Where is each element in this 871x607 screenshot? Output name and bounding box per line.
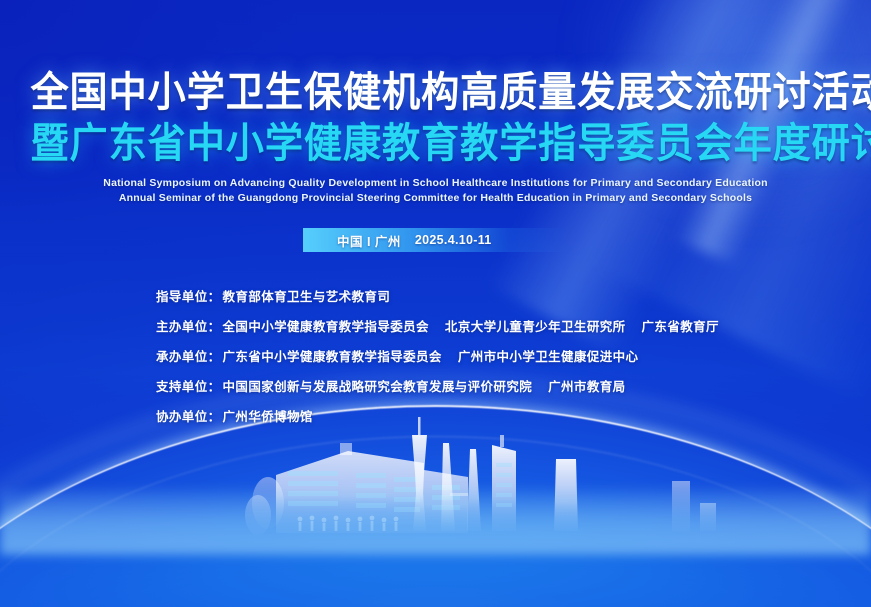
organizer-row: 支持单位： 中国国家创新与发展战略研究会教育发展与评价研究院 广州市教育局 — [156, 376, 719, 395]
venue-date-badge-wrap: 中国 I 广州 2025.4.10-11 — [0, 228, 871, 252]
organizer-label: 主办单位： — [156, 316, 221, 335]
subtitle-line-1: National Symposium on Advancing Quality … — [0, 176, 871, 191]
conference-poster: 全国中小学卫生保健机构高质量发展交流研讨活动 暨广东省中小学健康教育教学指导委员… — [0, 0, 871, 607]
organizer-row: 协办单位： 广州华侨博物馆 — [156, 406, 719, 425]
organizer-label: 协办单位： — [156, 406, 221, 425]
organizer-label: 承办单位： — [156, 346, 221, 365]
badge-date-label: 2025.4.10-11 — [415, 233, 492, 247]
organizer-value: 广州市中小学卫生健康促进中心 — [458, 346, 639, 365]
background-ground-fade — [0, 487, 871, 607]
organizer-value: 广东省教育厅 — [642, 316, 719, 335]
poster-title: 全国中小学卫生保健机构高质量发展交流研讨活动 暨广东省中小学健康教育教学指导委员… — [0, 72, 871, 164]
subtitle-line-2: Annual Seminar of the Guangdong Provinci… — [0, 191, 871, 206]
organizer-value: 全国中小学健康教育教学指导委员会 — [223, 316, 429, 335]
organizer-value: 教育部体育卫生与艺术教育司 — [223, 286, 391, 305]
venue-date-badge: 中国 I 广州 2025.4.10-11 — [303, 228, 568, 252]
organizer-values: 全国中小学健康教育教学指导委员会 北京大学儿童青少年卫生研究所 广东省教育厅 — [223, 316, 719, 335]
organizer-values: 广东省中小学健康教育教学指导委员会 广州市中小学卫生健康促进中心 — [223, 346, 639, 365]
organizer-row: 承办单位： 广东省中小学健康教育教学指导委员会 广州市中小学卫生健康促进中心 — [156, 346, 719, 365]
organizer-label: 支持单位： — [156, 376, 221, 395]
organizer-label: 指导单位： — [156, 286, 221, 305]
organizer-value: 广州华侨博物馆 — [223, 406, 313, 425]
organizer-value: 中国国家创新与发展战略研究会教育发展与评价研究院 — [223, 376, 533, 395]
badge-city-label: 中国 I 广州 — [337, 231, 401, 250]
organizer-list: 指导单位： 教育部体育卫生与艺术教育司 主办单位： 全国中小学健康教育教学指导委… — [156, 286, 719, 436]
organizer-row: 指导单位： 教育部体育卫生与艺术教育司 — [156, 286, 719, 305]
title-line-2: 暨广东省中小学健康教育教学指导委员会年度研讨活动 — [30, 123, 840, 164]
organizer-value: 广州市教育局 — [548, 376, 625, 395]
poster-subtitle: National Symposium on Advancing Quality … — [0, 176, 871, 206]
organizer-values: 教育部体育卫生与艺术教育司 — [223, 286, 391, 305]
organizer-value: 广东省中小学健康教育教学指导委员会 — [223, 346, 442, 365]
organizer-row: 主办单位： 全国中小学健康教育教学指导委员会 北京大学儿童青少年卫生研究所 广东… — [156, 316, 719, 335]
organizer-values: 中国国家创新与发展战略研究会教育发展与评价研究院 广州市教育局 — [223, 376, 626, 395]
title-line-1: 全国中小学卫生保健机构高质量发展交流研讨活动 — [30, 72, 840, 113]
organizer-value: 北京大学儿童青少年卫生研究所 — [445, 316, 626, 335]
organizer-values: 广州华侨博物馆 — [223, 406, 313, 425]
